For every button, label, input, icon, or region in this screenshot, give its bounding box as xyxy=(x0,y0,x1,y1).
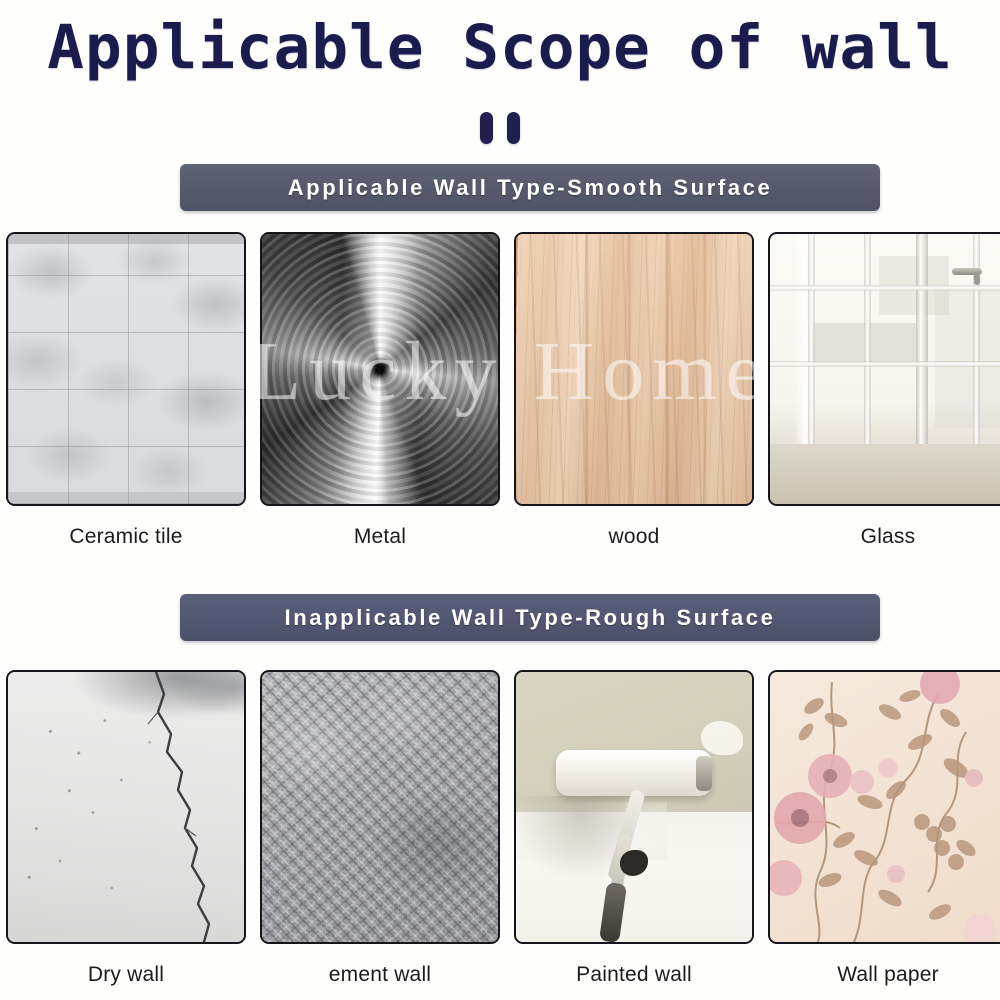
surface-caption: Glass xyxy=(861,525,916,549)
surface-caption: Painted wall xyxy=(576,963,692,987)
surface-card-dry-wall: Dry wall xyxy=(8,670,244,987)
surface-card-ceramic-tile: Ceramic tile xyxy=(8,232,244,549)
wood-grain-texture xyxy=(516,234,752,504)
surface-image-wall-paper xyxy=(768,670,1000,944)
surface-image-dry-wall xyxy=(6,670,246,944)
surface-image-ceramic-tile xyxy=(6,232,246,506)
smooth-surface-grid: Ceramic tile Metal wood xyxy=(8,232,992,549)
surface-caption: Metal xyxy=(354,525,406,549)
surface-card-wood: wood xyxy=(516,232,752,549)
wall-crack-icon xyxy=(8,672,244,942)
surface-card-painted-wall: Painted wall xyxy=(516,670,752,987)
section-banner-rough-surface: Inapplicable Wall Type-Rough Surface xyxy=(180,594,880,641)
surface-caption: ement wall xyxy=(329,963,431,987)
cracked-drywall-photo xyxy=(8,672,244,942)
surface-caption: wood xyxy=(608,525,659,549)
rough-cement-texture xyxy=(262,672,498,942)
door-handle-icon xyxy=(952,268,982,275)
paint-roller-icon xyxy=(556,750,712,796)
surface-card-metal: Metal xyxy=(262,232,498,549)
paint-splatter xyxy=(701,721,743,755)
surface-caption: Dry wall xyxy=(88,963,164,987)
divider-bar-left xyxy=(480,112,493,144)
surface-image-cement-wall xyxy=(260,670,500,944)
surface-image-glass xyxy=(768,232,1000,506)
glass-door-photo xyxy=(770,234,1000,504)
surface-image-painted-wall xyxy=(514,670,754,944)
surface-card-wall-paper: Wall paper xyxy=(770,670,1000,987)
roller-end-cap xyxy=(696,756,712,791)
surface-card-glass: Glass xyxy=(770,232,1000,549)
paint-roller-photo xyxy=(516,672,752,942)
mullion-horizontal xyxy=(770,285,1000,291)
surface-caption: Wall paper xyxy=(837,963,939,987)
ceramic-tile-texture xyxy=(8,234,244,504)
surface-caption: Ceramic tile xyxy=(69,525,182,549)
floor-area xyxy=(770,444,1000,504)
surface-image-wood xyxy=(514,232,754,506)
surface-card-cement-wall: ement wall xyxy=(262,670,498,987)
floral-wallpaper-texture xyxy=(770,672,1000,942)
glass-panel-shade xyxy=(935,288,1000,428)
mullion-horizontal xyxy=(770,361,1000,367)
divider-bar-right xyxy=(507,112,520,144)
section-banner-smooth-surface: Applicable Wall Type-Smooth Surface xyxy=(180,164,880,211)
floral-pattern-icon xyxy=(770,672,1000,942)
rough-surface-grid: Dry wall ement wall Painted wall xyxy=(8,670,992,987)
surface-image-metal xyxy=(260,232,500,506)
double-bar-divider xyxy=(0,110,1000,146)
page-title: Applicable Scope of wall xyxy=(0,14,1000,82)
brushed-metal-texture xyxy=(262,234,498,504)
